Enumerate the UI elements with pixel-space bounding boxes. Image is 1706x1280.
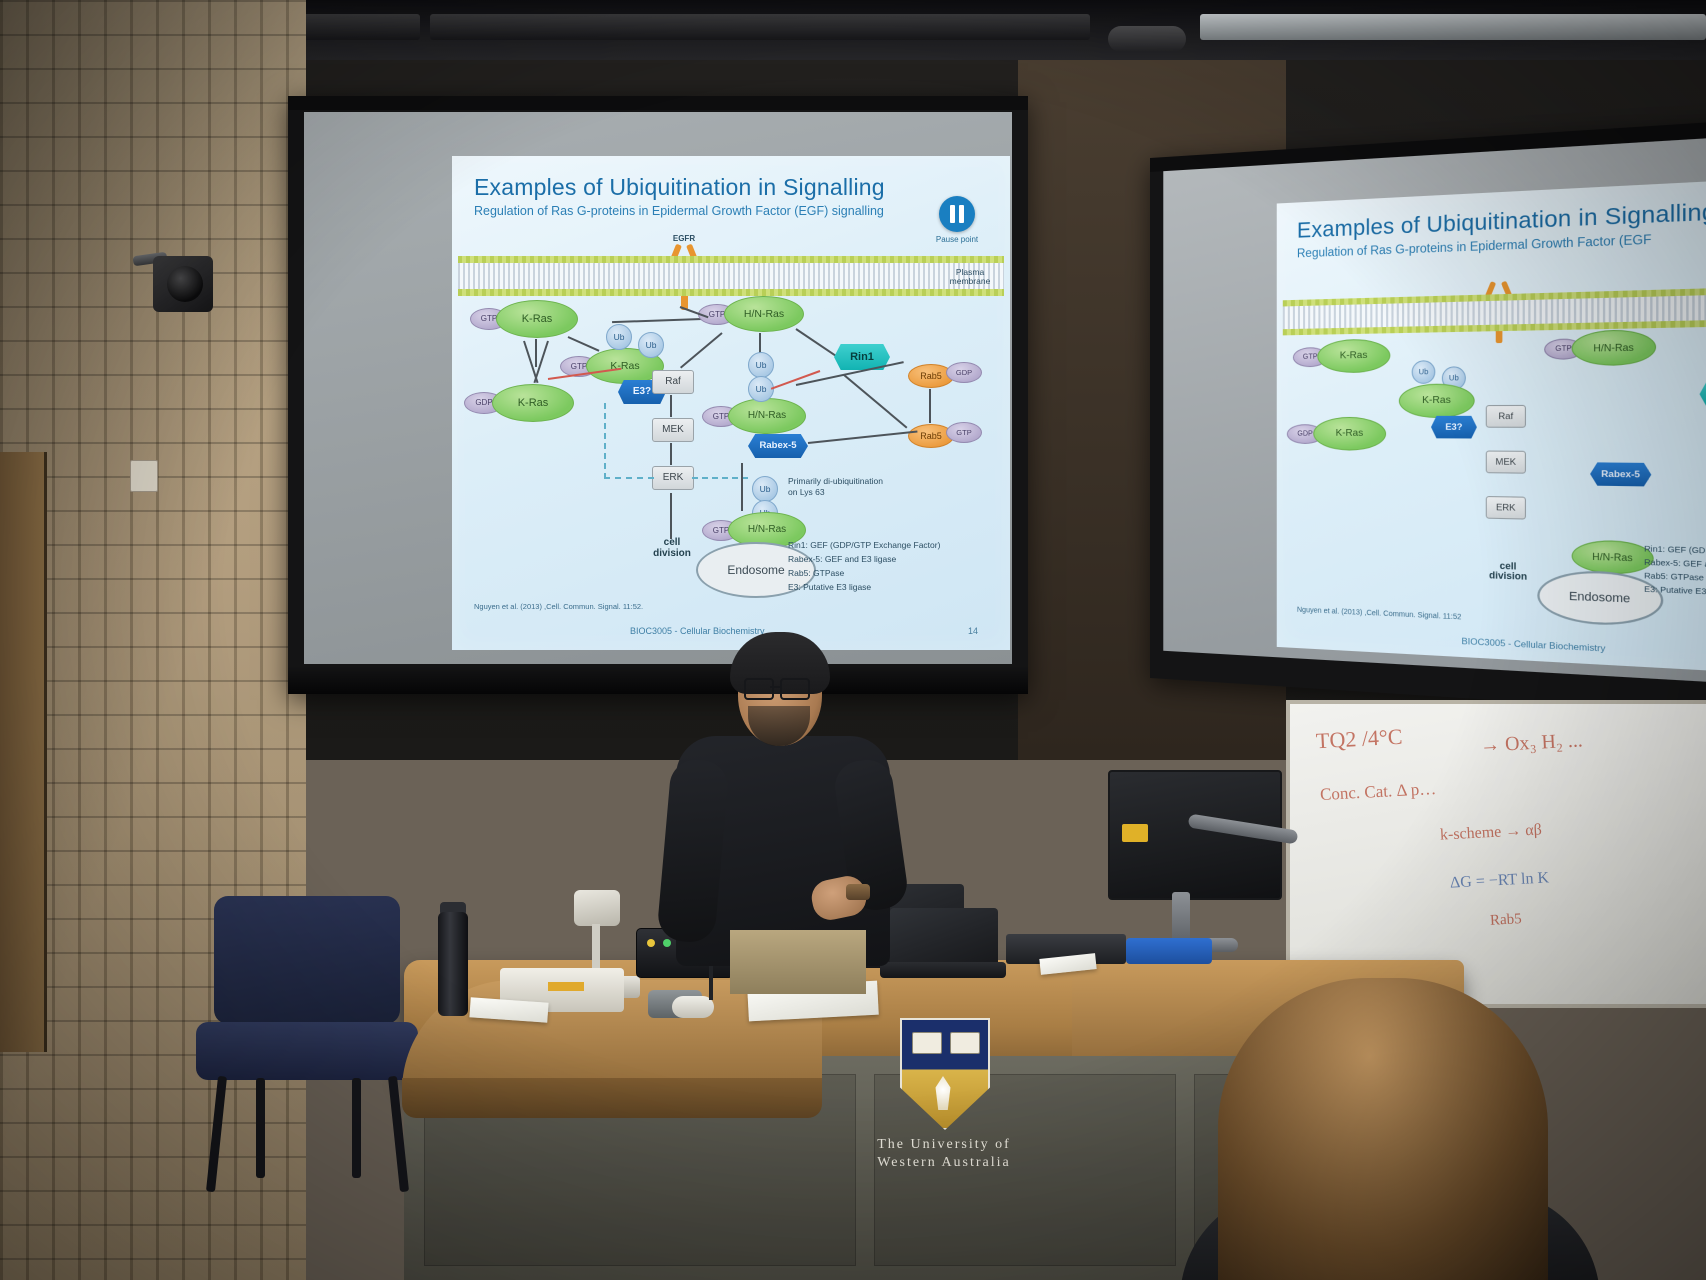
second-laptop-lid[interactable] (890, 908, 998, 966)
whiteboard-ink-6: Rab5 (1490, 911, 1523, 930)
side-table-edge (402, 1078, 822, 1118)
plasma-membrane-label: Plasmamembrane (938, 268, 1002, 287)
ceiling-vent (1108, 26, 1186, 52)
slide2-kras-1: K-Ras (1317, 339, 1390, 374)
crest-book-left (912, 1032, 942, 1054)
arrow-erk-celldivision (670, 493, 672, 539)
slide-citation: Nguyen et al. (2013) ,Cell. Commun. Sign… (474, 602, 643, 611)
ubiquitination-note: Primarily di-ubiquitinationon Lys 63 (788, 476, 978, 499)
slide2-e3: E3? (1431, 416, 1477, 439)
slide2-raf: Raf (1486, 405, 1526, 428)
pause-point-label: Pause point (914, 235, 1000, 244)
pause-bar-right (959, 205, 964, 223)
whiteboard-ink-3: Conc. Cat. Δ p… (1320, 779, 1437, 805)
slide2-rabex5: Rabex-5 (1590, 462, 1651, 486)
side-door[interactable] (0, 452, 47, 1052)
dashed-link-vertical (604, 403, 608, 479)
slide-footer: BIOC3005 - Cellular Biochemistry (630, 626, 765, 636)
raf-node: Raf (652, 370, 694, 394)
arrow-rin1-to-rab5 (843, 374, 907, 428)
slide-subtitle: Regulation of Ras G-proteins in Epiderma… (474, 204, 884, 218)
crest-book-right (950, 1032, 980, 1054)
slide2-erk: ERK (1486, 496, 1526, 520)
speaker-cone-icon (167, 266, 203, 302)
wall-speaker (133, 248, 225, 320)
slide2-hnras-1: H/N-Ras (1572, 329, 1656, 366)
pause-bar-left (950, 205, 955, 223)
doc-cam-head (574, 890, 620, 926)
ceiling-panel-right (1200, 14, 1706, 40)
chair-leg-1 (206, 1076, 227, 1192)
legend-line-rabex5: Rabex-5: GEF and E3 ligase (788, 554, 896, 564)
university-name: The University of Western Australia (856, 1136, 1032, 1171)
arrow-hnras-to-rin1 (795, 328, 836, 356)
arrow-raf-mek (670, 395, 672, 417)
arrow-kras-cycle-down (535, 339, 537, 367)
dashed-link-erk-left (604, 477, 654, 479)
second-laptop-base[interactable] (880, 962, 1006, 978)
whiteboard-ink-1: TQ2 /4°C (1315, 724, 1403, 754)
slide2-mek: MEK (1486, 450, 1526, 473)
yellow-sticker (1122, 824, 1148, 842)
projection-screen-main: Examples of Ubiquitination in Signalling… (288, 96, 1028, 694)
glasses-lens-right (780, 678, 810, 700)
slide2-cell-division: celldivision (1477, 561, 1540, 584)
slide2-footer: BIOC3005 - Cellular Biochemistry (1461, 635, 1605, 653)
dashed-link-erk-right (692, 477, 748, 479)
led-amber (647, 939, 655, 947)
egfr-label: EGFR (654, 234, 714, 243)
slide2-ub-1: Ub (1412, 360, 1436, 384)
rabex5-node: Rabex-5 (748, 434, 808, 458)
water-bottle[interactable] (438, 912, 468, 1016)
lecture-theatre-scene: Examples of Ubiquitination in Signalling… (0, 0, 1706, 1280)
led-green (663, 939, 671, 947)
slide2-hnras-2: H/N-Ras (1572, 539, 1654, 575)
slide2-legend-2: Rabex-5: GEF and E3 ligase (1644, 557, 1706, 571)
slide-secondary: Examples of Ubiquitination in Signalling… (1277, 173, 1706, 680)
legend-line-e3: E3: Putative E3 ligase (788, 582, 871, 592)
whiteboard-ink-5: ΔG = −RT ln K (1450, 869, 1550, 892)
screen-top-roller (288, 96, 1028, 110)
gtp-badge-rab5: GTP (946, 422, 982, 443)
chair-leg-3 (256, 1078, 265, 1178)
legend-line-rin1: Rin1: GEF (GDP/GTP Exchange Factor) (788, 540, 940, 550)
slide2-kras-2: K-Ras (1313, 417, 1386, 451)
chair-back (214, 896, 400, 1024)
erk-node: ERK (652, 466, 694, 490)
cell-division-label: celldivision (642, 538, 702, 559)
ub-circle-hnras-1: Ub (748, 352, 774, 378)
hnras-mid-node: H/N-Ras (728, 398, 806, 434)
gdp-badge-rab5: GDP (946, 362, 982, 383)
chair[interactable] (196, 896, 418, 1196)
kras-gdp-node: K-Ras (492, 384, 574, 422)
arrow-rab5-gdp-gtp (929, 389, 931, 423)
ub-circle-kras-2: Ub (638, 332, 664, 358)
chair-leg-4 (352, 1078, 361, 1178)
slide2-legend-3: Rab5: GTPase (1644, 571, 1704, 583)
crest-swan-icon (926, 1076, 960, 1110)
screen-surface-secondary: Examples of Ubiquitination in Signalling… (1163, 132, 1706, 688)
hnras-top-node: H/N-Ras (724, 296, 804, 332)
whiteboard-ink-4: k-scheme → αβ (1440, 821, 1543, 844)
ub-circle-kras-1: Ub (606, 324, 632, 350)
membrane-head-bottom (458, 289, 1004, 296)
ceiling-panel-mid (430, 14, 1090, 40)
screen-bottom-bar (288, 666, 1028, 694)
slide-number: 14 (968, 626, 978, 636)
mek-node: MEK (652, 418, 694, 442)
ub-circle-hnras-2: Ub (748, 376, 774, 402)
screen-surface-main: Examples of Ubiquitination in Signalling… (304, 112, 1012, 664)
arrow-mek-erk (670, 443, 672, 465)
whiteboard-ink-2: → Ox₃ H₂ ... (1479, 729, 1583, 757)
kras-gtp-node: K-Ras (496, 300, 578, 338)
slide-main: Examples of Ubiquitination in Signalling… (452, 156, 1010, 650)
arrow-down-to-endosome-ras (741, 463, 743, 511)
student-head (1218, 978, 1548, 1280)
arrow-rabex5-to-rab5 (808, 431, 918, 444)
arrow-receptor-to-kras (612, 318, 702, 323)
plasma-membrane (458, 256, 1004, 296)
arrow-kras-to-ubkras (568, 336, 600, 352)
glasses-lens-left (744, 678, 774, 700)
membrane-head-top (458, 256, 1004, 263)
lecturer-trousers (730, 930, 866, 994)
blue-device[interactable] (1126, 938, 1212, 964)
slide-title: Examples of Ubiquitination in Signalling (474, 174, 885, 201)
lecturer-watch (846, 884, 870, 900)
slide2-rin1: Rin1 (1700, 381, 1706, 406)
av-box-label (548, 982, 584, 991)
glasses-bridge (770, 686, 780, 688)
projection-screen-secondary: Examples of Ubiquitination in Signalling… (1150, 114, 1706, 722)
light-switch[interactable] (130, 460, 158, 492)
slide2-citation: Nguyen et al. (2013) ,Cell. Commun. Sign… (1297, 607, 1461, 622)
membrane-tails (458, 263, 1004, 289)
ub-circle-endo-1: Ub (752, 476, 778, 502)
slide2-kras-3: K-Ras (1399, 383, 1475, 418)
white-remote[interactable] (672, 996, 714, 1018)
legend-line-rab5: Rab5: GTPase (788, 568, 844, 578)
pause-point-icon[interactable] (939, 196, 975, 232)
chair-seat (196, 1022, 418, 1080)
arrow-hnras-to-raf (680, 332, 723, 368)
